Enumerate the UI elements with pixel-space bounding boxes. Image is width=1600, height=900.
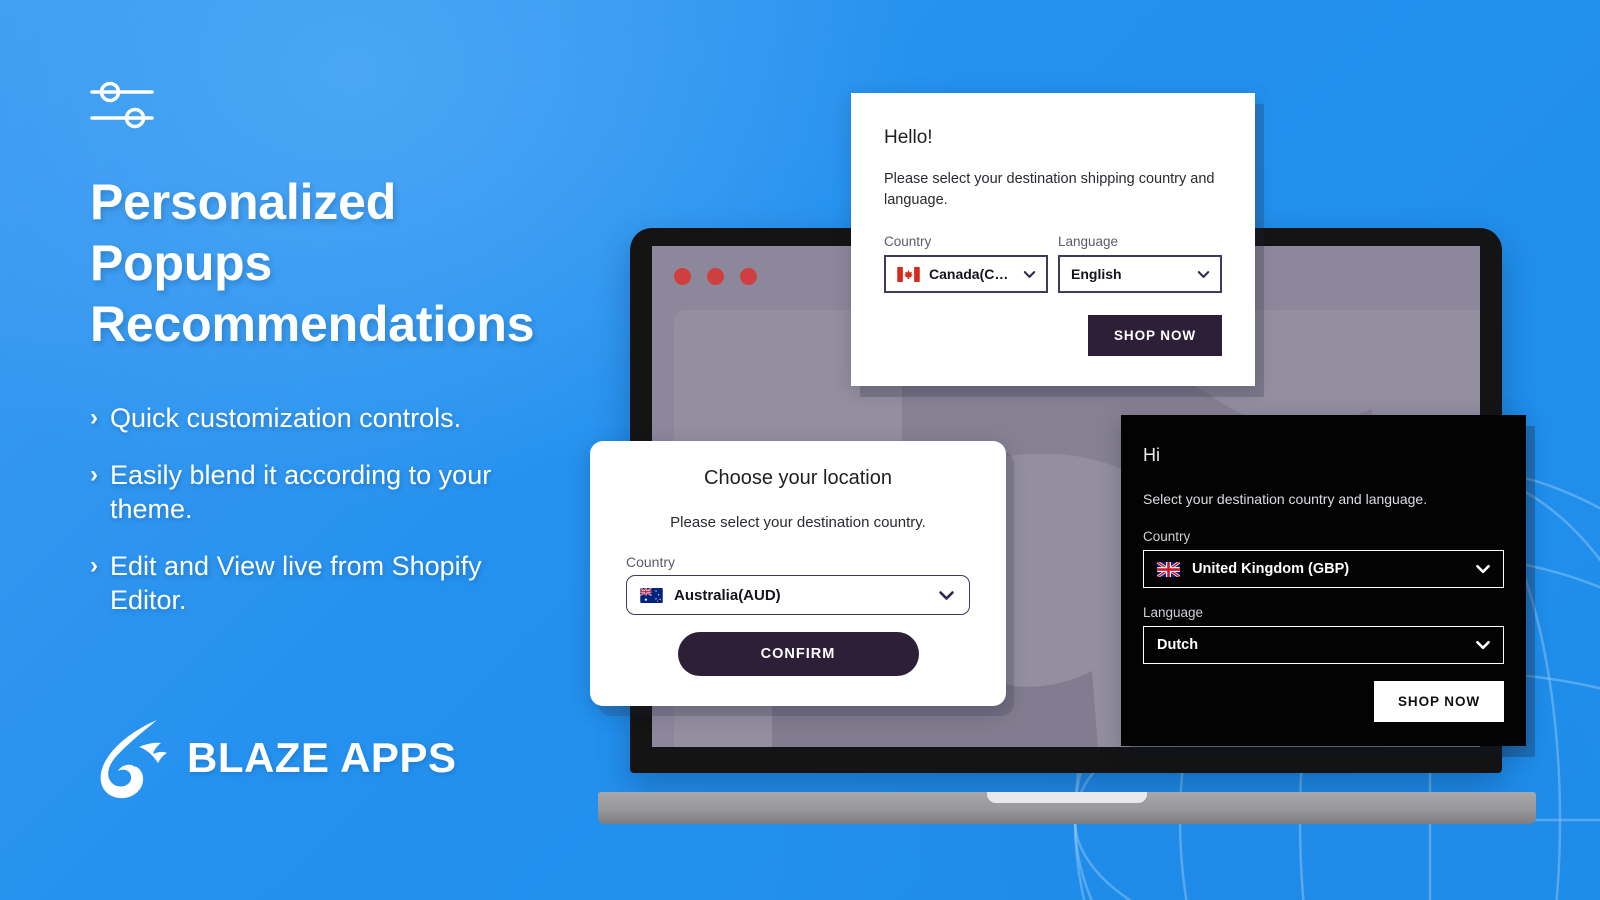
chevron-down-icon[interactable] — [1474, 560, 1492, 578]
feature-list: › Quick customization controls. › Easily… — [90, 401, 650, 618]
language-select[interactable]: English — [1058, 255, 1222, 293]
shop-now-button[interactable]: SHOP NOW — [1088, 315, 1222, 356]
hello-popup: Hello! Please select your destination sh… — [851, 93, 1255, 386]
chevron-right-icon: › — [90, 458, 98, 492]
list-item: › Quick customization controls. — [90, 401, 650, 436]
language-label: Language — [1143, 605, 1504, 620]
feature-text: Edit and View live from Shopify Editor. — [110, 549, 540, 618]
popup-actions: SHOP NOW — [1143, 681, 1504, 722]
country-value: United Kingdom (GBP) — [1192, 561, 1462, 577]
popup-title: Choose your location — [626, 467, 970, 490]
chevron-down-icon[interactable] — [1022, 267, 1037, 282]
popup-subtitle: Please select your destination country. — [626, 514, 970, 531]
flag-united-kingdom — [1157, 562, 1180, 577]
page-title: Personalized Popups Recommendations — [90, 172, 650, 355]
window-dot-red — [674, 268, 691, 285]
chevron-right-icon: › — [90, 549, 98, 583]
country-label: Country — [884, 234, 1048, 249]
feature-text: Quick customization controls. — [110, 401, 461, 436]
popup-title: Hello! — [884, 127, 1222, 149]
chevron-down-icon[interactable] — [1196, 267, 1211, 282]
hi-popup: Hi Select your destination country and l… — [1121, 415, 1526, 746]
flame-eagle-logo-icon — [95, 716, 187, 800]
popup-subtitle: Please select your destination shipping … — [884, 169, 1222, 210]
laptop-base — [598, 792, 1536, 824]
country-value: Canada(CAD) — [929, 266, 1013, 282]
country-label: Country — [626, 554, 970, 570]
country-select[interactable]: United Kingdom (GBP) — [1143, 550, 1504, 588]
language-select[interactable]: Dutch — [1143, 626, 1504, 664]
chevron-down-icon[interactable] — [937, 586, 956, 605]
laptop-notch — [987, 792, 1147, 803]
country-label: Country — [1143, 529, 1504, 544]
promo-banner: Personalized Popups Recommendations › Qu… — [0, 0, 1600, 900]
list-item: › Easily blend it according to your them… — [90, 458, 650, 527]
headline-line-2: Popups — [90, 233, 650, 294]
popup-title: Hi — [1143, 445, 1504, 466]
popup-actions: SHOP NOW — [884, 315, 1222, 356]
flag-canada — [897, 267, 920, 282]
confirm-button[interactable]: CONFIRM — [678, 632, 919, 676]
language-label: Language — [1058, 234, 1222, 249]
country-field: Country Canada(CAD) — [884, 234, 1048, 293]
country-select[interactable]: Canada(CAD) — [884, 255, 1048, 293]
language-field: Language English — [1058, 234, 1222, 293]
window-traffic-lights — [674, 268, 757, 285]
window-dot-red — [707, 268, 724, 285]
choose-location-popup: Choose your location Please select your … — [590, 441, 1006, 706]
popup-subtitle: Select your destination country and lang… — [1143, 491, 1504, 507]
brand-name: BLAZE APPS — [187, 734, 456, 782]
list-item: › Edit and View live from Shopify Editor… — [90, 549, 650, 618]
chevron-down-icon[interactable] — [1474, 636, 1492, 654]
country-value: Australia(AUD) — [674, 587, 926, 604]
brand-logo: BLAZE APPS — [95, 716, 456, 800]
country-field: Country Australia(AUD) — [626, 554, 970, 615]
popup-fields: Country Canada(CAD) Language — [884, 234, 1222, 293]
hero-text-column: Personalized Popups Recommendations › Qu… — [90, 78, 650, 640]
flag-australia — [640, 588, 663, 603]
window-dot-red — [740, 268, 757, 285]
sliders-settings-icon — [90, 78, 160, 130]
language-value: Dutch — [1157, 637, 1462, 653]
country-select[interactable]: Australia(AUD) — [626, 575, 970, 615]
headline-line-1: Personalized — [90, 172, 650, 233]
shop-now-button[interactable]: SHOP NOW — [1374, 681, 1504, 722]
chevron-right-icon: › — [90, 401, 98, 435]
headline-line-3: Recommendations — [90, 294, 650, 355]
feature-text: Easily blend it according to your theme. — [110, 458, 540, 527]
language-value: English — [1071, 266, 1187, 282]
